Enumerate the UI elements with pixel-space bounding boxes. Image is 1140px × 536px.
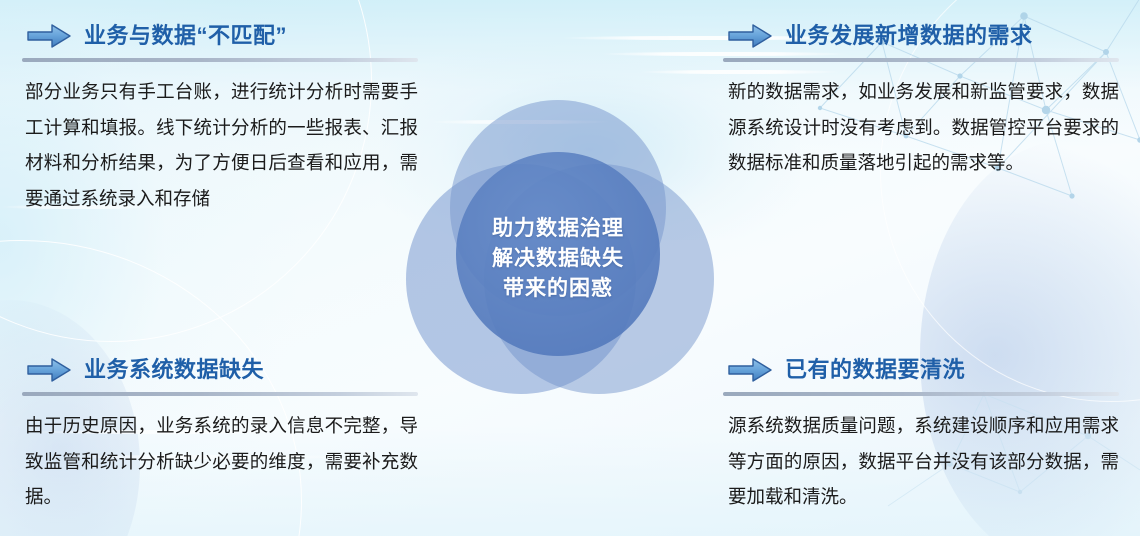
quadrant-card-top-right[interactable]: 业务发展新增数据的需求 新的数据需求，如业务发展和新监管要求，数据源系统设计时没… bbox=[723, 18, 1119, 181]
card-body-text: 新的数据需求，如业务发展和新监管要求，数据源系统设计时没有考虑到。数据管控平台要… bbox=[723, 74, 1119, 181]
card-body-text: 部分业务只有手工台账，进行统计分析时需要手工计算和填报。线下统计分析的一些报表、… bbox=[22, 74, 418, 216]
quadrant-card-top-left[interactable]: 业务与数据“不匹配” 部分业务只有手工台账，进行统计分析时需要手工计算和填报。线… bbox=[22, 18, 418, 216]
center-statement-line-1: 助力数据治理 bbox=[398, 214, 718, 244]
card-divider bbox=[723, 392, 1119, 396]
center-statement-line-3: 带来的困惑 bbox=[398, 274, 718, 304]
arrow-right-icon bbox=[727, 22, 773, 50]
card-header: 业务系统数据缺失 bbox=[22, 352, 418, 388]
center-venn-graphic: 助力数据治理 解决数据缺失 带来的困惑 bbox=[398, 96, 718, 416]
arrow-right-icon bbox=[26, 356, 72, 384]
card-body-text: 源系统数据质量问题，系统建设顺序和应用需求等方面的原因，数据平台并没有该部分数据… bbox=[723, 408, 1119, 515]
card-header: 业务与数据“不匹配” bbox=[22, 18, 418, 54]
card-title: 业务系统数据缺失 bbox=[84, 359, 264, 381]
card-title: 业务发展新增数据的需求 bbox=[785, 25, 1033, 47]
card-header: 已有的数据要清洗 bbox=[723, 352, 1119, 388]
arrow-right-icon bbox=[26, 22, 72, 50]
card-body-text: 由于历史原因，业务系统的录入信息不完整，导致监管和统计分析缺少必要的维度，需要补… bbox=[22, 408, 418, 515]
card-divider bbox=[22, 58, 418, 62]
arrow-right-icon bbox=[727, 356, 773, 384]
quadrant-card-bottom-left[interactable]: 业务系统数据缺失 由于历史原因，业务系统的录入信息不完整，导致监管和统计分析缺少… bbox=[22, 352, 418, 515]
card-header: 业务发展新增数据的需求 bbox=[723, 18, 1119, 54]
slide-canvas: 助力数据治理 解决数据缺失 带来的困惑 业务与数据“不匹配” 部分业务只有手工台… bbox=[0, 0, 1140, 536]
center-statement: 助力数据治理 解决数据缺失 带来的困惑 bbox=[398, 214, 718, 303]
quadrant-card-bottom-right[interactable]: 已有的数据要清洗 源系统数据质量问题，系统建设顺序和应用需求等方面的原因，数据平… bbox=[723, 352, 1119, 515]
center-statement-line-2: 解决数据缺失 bbox=[398, 244, 718, 274]
card-title: 已有的数据要清洗 bbox=[785, 359, 965, 381]
card-divider bbox=[22, 392, 418, 396]
card-divider bbox=[723, 58, 1119, 62]
card-title: 业务与数据“不匹配” bbox=[84, 25, 287, 47]
